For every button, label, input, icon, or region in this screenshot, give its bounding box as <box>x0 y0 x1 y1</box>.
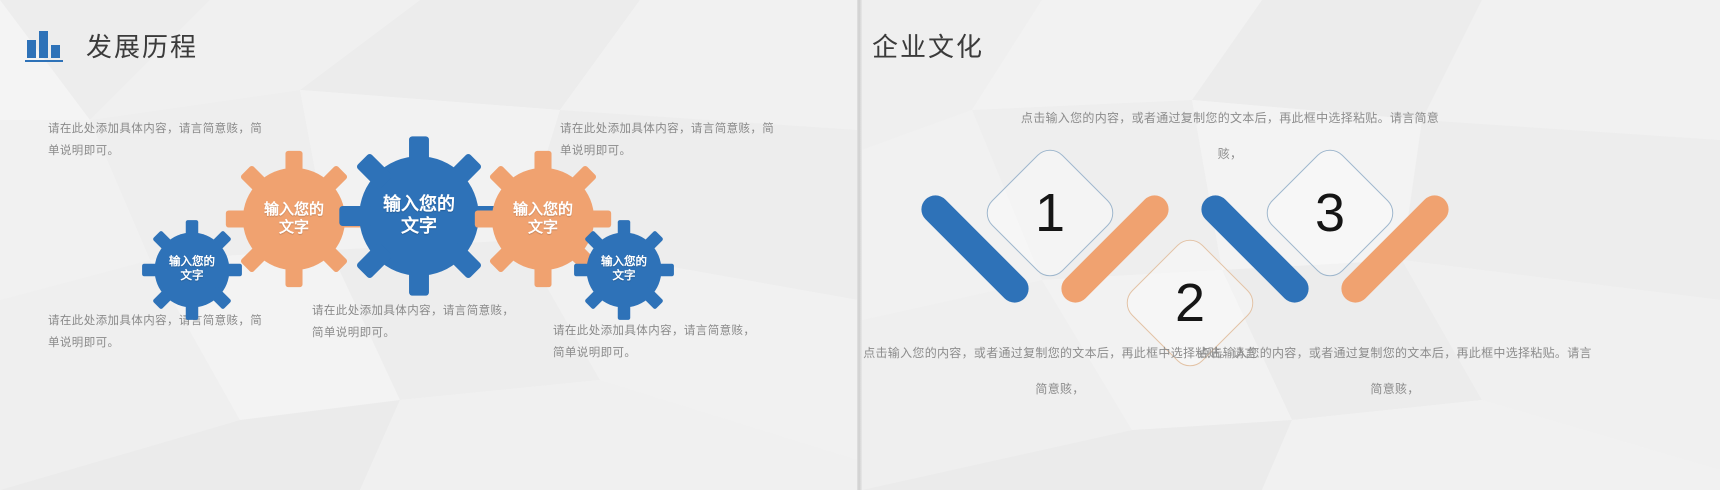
diamond-step-3-number: 3 <box>1315 182 1345 244</box>
bar-chart-bar-3 <box>51 45 60 58</box>
page-title-left: 发展历程 <box>86 27 198 64</box>
bar-chart-icon <box>24 26 64 64</box>
slide-divider <box>857 0 862 490</box>
paragraph-right-top: 点击输入您的内容，或者通过复制您的文本后，再此框中选择粘贴。请言简意赅， <box>1010 100 1450 172</box>
gear-5[interactable]: 输入您的 文字 <box>572 218 676 322</box>
paragraph-right-bottom-right: 点击输入您的内容，或者通过复制您的文本后，再此框中选择粘贴。请言简意赅， <box>1195 335 1595 407</box>
page-title-right: 企业文化 <box>872 27 984 64</box>
gear-5-shape <box>572 218 676 322</box>
diamond-step-1-number: 1 <box>1035 182 1065 244</box>
slide-pair-canvas: 发展历程 请在此处添加具体内容，请言简意赅，简单说明即可。 请在此处添加具体内容… <box>0 0 1720 490</box>
slide-header-left: 发展历程 <box>24 26 198 64</box>
diamond-step-2-number: 2 <box>1175 272 1205 334</box>
slide-development-history: 发展历程 请在此处添加具体内容，请言简意赅，简单说明即可。 请在此处添加具体内容… <box>0 0 858 490</box>
paragraph-bottom-center: 请在此处添加具体内容，请言简意赅，简单说明即可。 <box>312 300 517 344</box>
bar-chart-bar-2 <box>39 31 48 58</box>
bar-chart-baseline <box>25 60 63 62</box>
bar-chart-bar-1 <box>27 40 36 58</box>
slide-header-right: 企业文化 <box>862 26 984 64</box>
paragraph-bottom-right: 请在此处添加具体内容，请言简意赅，简单说明即可。 <box>553 320 758 364</box>
